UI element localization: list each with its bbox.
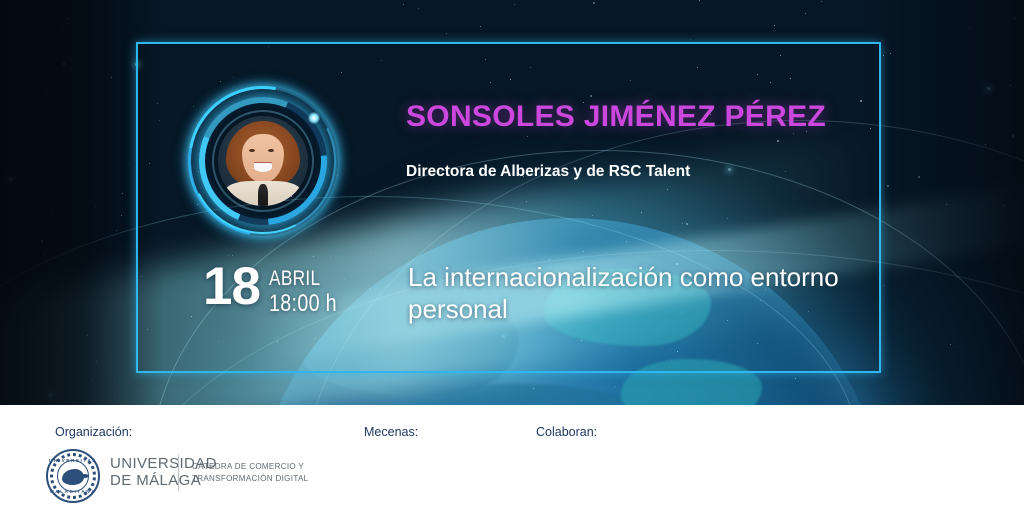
uma-seal-bottom-text: MALACITANA [48,489,98,494]
catedra-line1: CÁTEDRA DE COMERCIO Y [192,461,308,473]
dove-icon [62,469,84,485]
event-poster: SONSOLES JIMÉNEZ PÉREZ Directora de Albe… [0,0,1024,512]
catedra-wordmark: CÁTEDRA DE COMERCIO Y TRANSFORMACIÓN DIG… [192,461,308,484]
banner-hero: SONSOLES JIMÉNEZ PÉREZ Directora de Albe… [0,0,1024,405]
label-mecenas: Mecenas: [364,425,418,439]
uma-seal-top-text: UNIVERSITAS [48,458,98,463]
label-colaboran: Colaboran: [536,425,597,439]
event-month: ABRIL [269,267,337,291]
speaker-name: SONSOLES JIMÉNEZ PÉREZ [406,100,826,134]
catedra-line2: TRANSFORMACIÓN DIGITAL [192,473,308,485]
event-day: 18 [203,262,260,313]
avatar [218,116,308,206]
sponsor-footer: Organización: Mecenas: Colaboran: UNIVER… [0,405,1024,512]
event-time: 18:00 h [269,291,337,318]
microphone-icon [258,184,269,206]
uma-seal-logo: UNIVERSITAS MALACITANA [46,449,100,503]
label-organizacion: Organización: [55,425,132,439]
talk-title: La internacionalización como entorno per… [408,262,858,326]
speaker-portrait-ring [188,86,338,236]
hud-glow-dot [308,112,320,124]
uma-divider [178,455,179,491]
event-date-block: 18 ABRIL 18:00 h [203,262,352,317]
speaker-role: Directora de Alberizas y de RSC Talent [406,163,690,181]
